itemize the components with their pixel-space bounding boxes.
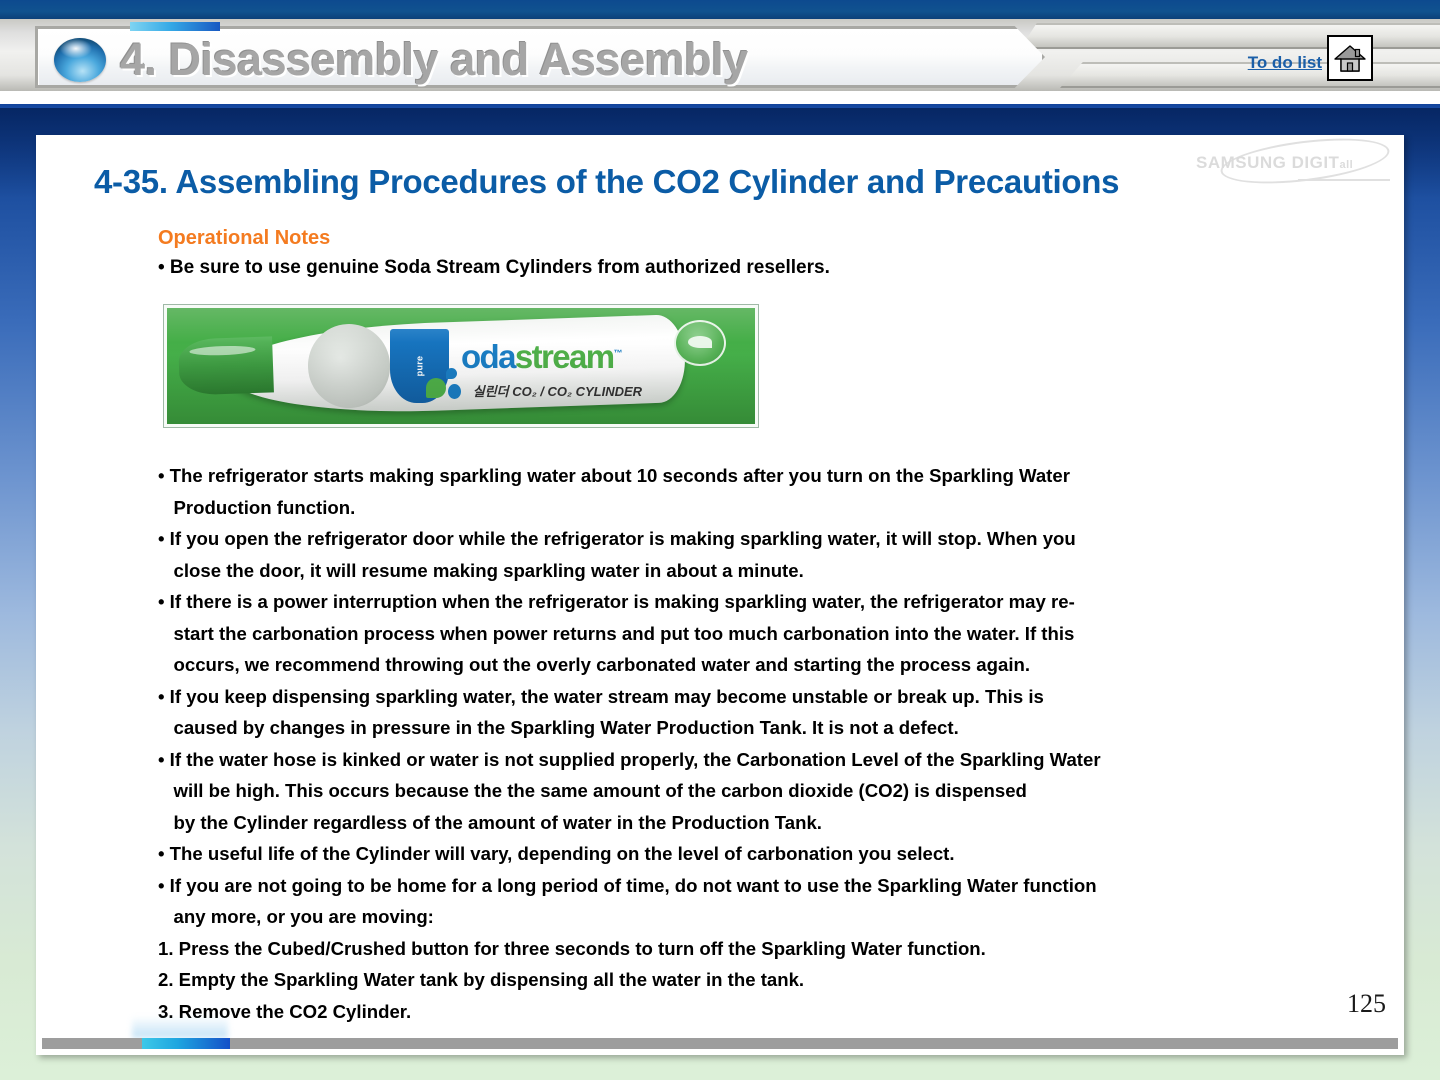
home-icon	[1334, 43, 1366, 73]
note-item: • If you keep dispensing sparkling water…	[158, 681, 1398, 744]
watermark-label: SAMSUNG DIGIT	[1196, 153, 1339, 172]
header-chevron-upper	[1020, 23, 1440, 49]
note-item: • If you open the refrigerator door whil…	[158, 523, 1398, 586]
slide-page: 4. Disassembly and Assembly To do list S…	[0, 0, 1440, 1080]
note-item: • If you are not going to be home for a …	[158, 870, 1398, 933]
note-item: 3. Remove the CO2 Cylinder.	[158, 996, 1398, 1028]
photo-highlight-overlay	[167, 308, 755, 424]
footer-bar	[42, 1038, 1398, 1049]
watermark-underline	[1298, 179, 1390, 181]
note-item: • If there is a power interruption when …	[158, 586, 1398, 681]
slide-content: SAMSUNG DIGITall 4-35. Assembling Proced…	[36, 135, 1404, 1055]
home-button[interactable]	[1327, 35, 1373, 81]
footer-accent-segment	[142, 1038, 230, 1049]
note-item: • The refrigerator starts making sparkli…	[158, 460, 1398, 523]
note-item: 1. Press the Cubed/Crushed button for th…	[158, 933, 1398, 965]
todo-list-link[interactable]: To do list	[1248, 53, 1322, 73]
samsung-digitall-watermark: SAMSUNG DIGITall	[1190, 139, 1400, 197]
cylinder-photo-inner: pure odastream™ 실린더 CO₂ / CO₂ CYLINDER	[167, 308, 755, 424]
footer-glow	[132, 1016, 228, 1038]
page-number: 125	[1347, 989, 1386, 1019]
page-title: 4. Disassembly and Assembly	[120, 34, 748, 86]
note-item: • The useful life of the Cylinder will v…	[158, 838, 1398, 870]
header-accent-bar	[130, 22, 220, 31]
note-item: 2. Empty the Sparkling Water tank by dis…	[158, 964, 1398, 996]
cylinder-photo: pure odastream™ 실린더 CO₂ / CO₂ CYLINDER	[163, 304, 759, 428]
slide-heading: 4-35. Assembling Procedures of the CO2 C…	[94, 163, 1119, 201]
top-navy-stripe	[0, 0, 1440, 19]
watermark-ellipse	[1218, 135, 1392, 191]
notes-list: • The refrigerator starts making sparkli…	[158, 460, 1398, 1027]
watermark-text: SAMSUNG DIGITall	[1196, 153, 1353, 173]
page-header: 4. Disassembly and Assembly To do list	[0, 0, 1440, 108]
note-item: • If the water hose is kinked or water i…	[158, 744, 1398, 839]
sphere-logo-icon	[54, 38, 106, 82]
lead-bullet-text: • Be sure to use genuine Soda Stream Cyl…	[158, 257, 830, 279]
section-label: Operational Notes	[158, 227, 330, 250]
watermark-tail: all	[1339, 159, 1353, 171]
